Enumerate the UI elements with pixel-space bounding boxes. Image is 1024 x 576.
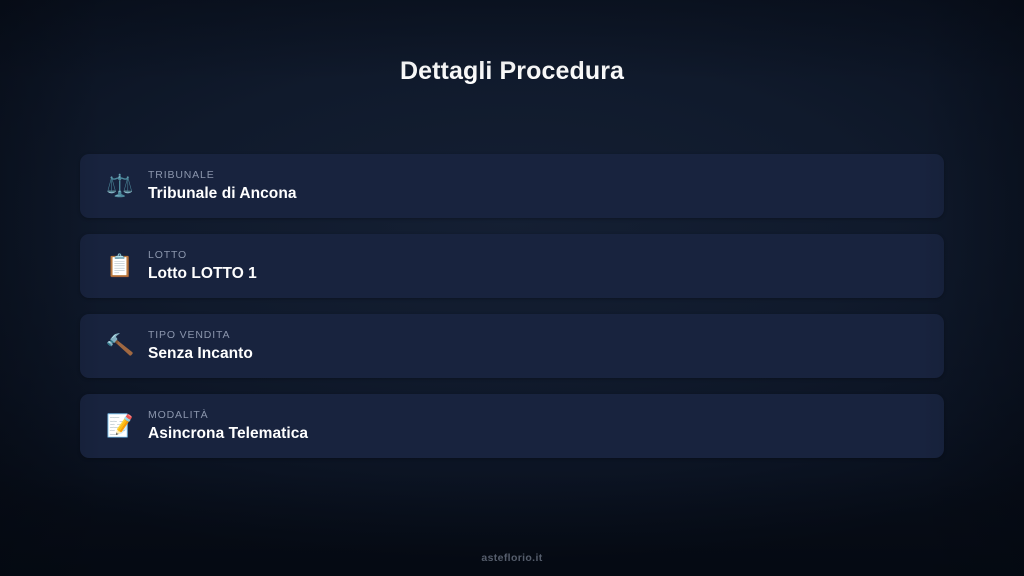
detail-card-modalita: 📝 MODALITÀ Asincrona Telematica bbox=[80, 394, 944, 458]
detail-card-text: TIPO VENDITA Senza Incanto bbox=[148, 329, 253, 363]
page-content: Dettagli Procedura ⚖️ TRIBUNALE Tribunal… bbox=[0, 0, 1024, 576]
page-title: Dettagli Procedura bbox=[400, 57, 624, 86]
memo-pencil-icon: 📝 bbox=[104, 410, 136, 442]
footer: asteflorio.it bbox=[0, 548, 1024, 566]
gavel-hammer-icon: 🔨 bbox=[102, 328, 138, 364]
detail-label-modalita: MODALITÀ bbox=[148, 409, 308, 422]
detail-label-lotto: LOTTO bbox=[148, 249, 257, 262]
detail-card-text: MODALITÀ Asincrona Telematica bbox=[148, 409, 308, 443]
detail-value-tipo-vendita: Senza Incanto bbox=[148, 344, 253, 363]
detail-value-tribunale: Tribunale di Ancona bbox=[148, 184, 297, 203]
detail-label-tipo-vendita: TIPO VENDITA bbox=[148, 329, 253, 342]
detail-card-lotto: 📋 LOTTO Lotto LOTTO 1 bbox=[80, 234, 944, 298]
clipboard-icon: 📋 bbox=[104, 250, 136, 282]
detail-label-tribunale: TRIBUNALE bbox=[148, 169, 297, 182]
detail-card-tipo-vendita: 🔨 TIPO VENDITA Senza Incanto bbox=[80, 314, 944, 378]
detail-card-text: TRIBUNALE Tribunale di Ancona bbox=[148, 169, 297, 203]
detail-card-tribunale: ⚖️ TRIBUNALE Tribunale di Ancona bbox=[80, 154, 944, 218]
scales-of-justice-icon: ⚖️ bbox=[104, 170, 136, 202]
procedure-details-list: ⚖️ TRIBUNALE Tribunale di Ancona 📋 LOTTO… bbox=[80, 154, 944, 458]
detail-card-text: LOTTO Lotto LOTTO 1 bbox=[148, 249, 257, 283]
footer-site-name: asteflorio.it bbox=[481, 552, 542, 564]
detail-value-modalita: Asincrona Telematica bbox=[148, 424, 308, 443]
detail-value-lotto: Lotto LOTTO 1 bbox=[148, 264, 257, 283]
